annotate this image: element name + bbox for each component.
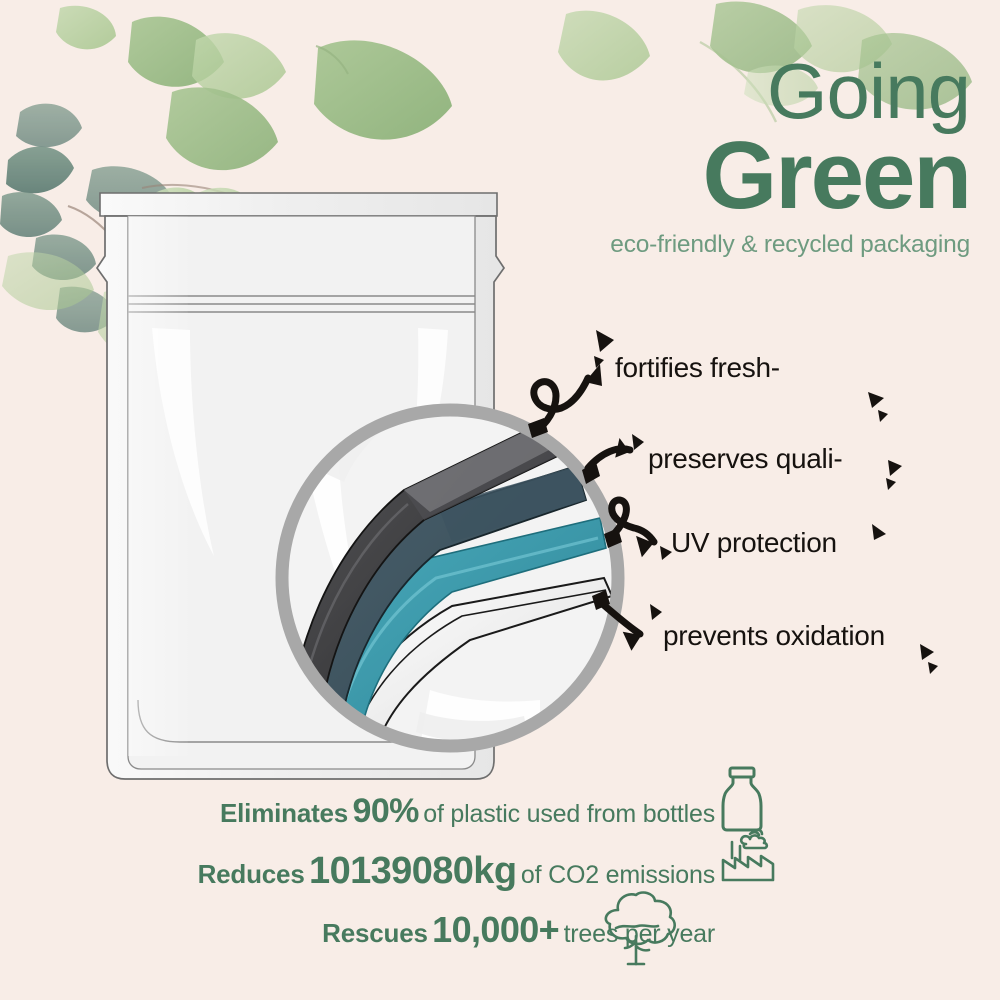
- stat-number: 10,000+: [432, 909, 559, 950]
- bottle-icon: [718, 766, 766, 832]
- tree-icon: [592, 890, 680, 968]
- heading-line-1: Going: [560, 56, 970, 128]
- stat-label: Eliminates: [220, 798, 348, 828]
- stat-description: of plastic used from bottles: [423, 800, 715, 828]
- stat-description: of CO2 emissions: [521, 861, 715, 889]
- feature-label-prevents-oxidation: prevents oxidation: [663, 620, 885, 652]
- stat-label: Rescues: [322, 918, 428, 948]
- stat-number: 90%: [353, 792, 419, 830]
- stat-number: 10139080kg: [309, 850, 516, 892]
- feature-label-fortifies: fortifies fresh-: [615, 352, 780, 384]
- stat-row: Reduces 10139080kg of CO2 emissions: [198, 850, 715, 893]
- heading-line-2: Green: [560, 130, 970, 221]
- feature-label-preserves: preserves quali-: [648, 443, 842, 475]
- heading-subtitle: eco-friendly & recycled packaging: [560, 231, 970, 259]
- feature-label-uv-protection: UV protection: [671, 527, 837, 559]
- heading-block: Going Green eco-friendly & recycled pack…: [560, 56, 970, 259]
- stat-label: Reduces: [198, 859, 305, 889]
- stat-row: Eliminates 90% of plastic used from bott…: [220, 792, 715, 831]
- arrow-anchor-dots: [528, 418, 622, 610]
- factory-icon: [720, 828, 776, 884]
- infographic-canvas: Going Green eco-friendly & recycled pack…: [0, 0, 1000, 1000]
